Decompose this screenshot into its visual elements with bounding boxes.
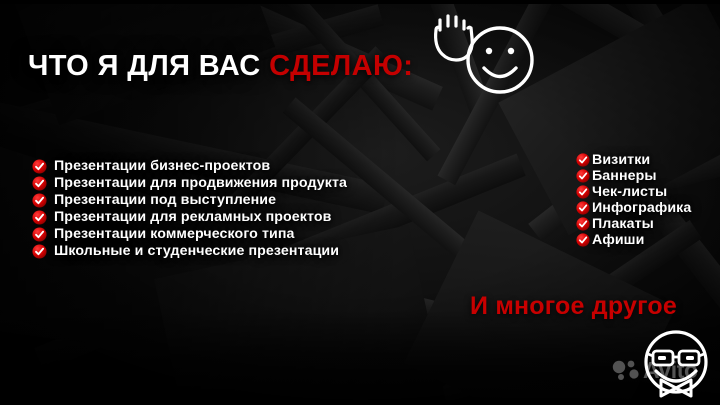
promo-poster: ЧТО Я ДЛЯ ВАС СДЕЛАЮ: [0, 0, 720, 405]
red-check-badge-icon [32, 176, 47, 191]
services-list-left: Презентации бизнес-проектов Презентации … [32, 158, 347, 260]
list-item: Визитки [576, 152, 691, 168]
red-check-badge-icon [576, 201, 590, 215]
red-check-badge-icon [576, 169, 590, 183]
list-item: Баннеры [576, 168, 691, 184]
nerd-smiley-glasses-bowtie-icon [636, 326, 716, 405]
red-check-badge-icon [32, 227, 47, 242]
list-item: Презентации коммерческого типа [32, 226, 347, 242]
list-item-label: Афиши [592, 232, 644, 248]
red-check-badge-icon [32, 193, 47, 208]
list-item-label: Плакаты [592, 216, 654, 232]
smiley-waving-hand-icon [426, 4, 546, 104]
page-title: ЧТО Я ДЛЯ ВАС СДЕЛАЮ: [28, 50, 413, 83]
list-item-label: Баннеры [592, 168, 657, 184]
red-check-badge-icon [576, 217, 590, 231]
list-item-label: Презентации для рекламных проектов [54, 209, 331, 225]
list-item-label: Презентации коммерческого типа [54, 226, 294, 242]
top-edge-bar [0, 0, 720, 4]
page-title-white: ЧТО Я ДЛЯ ВАС [28, 50, 269, 82]
list-item: Чек-листы [576, 184, 691, 200]
list-item-label: Инфографика [592, 200, 691, 216]
list-item-label: Презентации под выступление [54, 192, 276, 208]
more-services-text: И многое другое [470, 292, 677, 321]
list-item: Инфографика [576, 200, 691, 216]
list-item: Презентации для рекламных проектов [32, 209, 347, 225]
list-item: Презентации под выступление [32, 192, 347, 208]
red-check-badge-icon [32, 244, 47, 259]
list-item: Школьные и студенческие презентации [32, 243, 347, 259]
red-check-badge-icon [32, 210, 47, 225]
bottom-edge-bar [0, 400, 720, 405]
list-item-label: Чек-листы [592, 184, 667, 200]
list-item: Презентации бизнес-проектов [32, 158, 347, 174]
red-check-badge-icon [576, 233, 590, 247]
list-item-label: Визитки [592, 152, 650, 168]
list-item: Плакаты [576, 216, 691, 232]
list-item-label: Презентации для продвижения продукта [54, 175, 347, 191]
red-check-badge-icon [576, 153, 590, 167]
list-item: Афиши [576, 232, 691, 248]
list-item-label: Презентации бизнес-проектов [54, 158, 270, 174]
list-item: Презентации для продвижения продукта [32, 175, 347, 191]
page-title-accent: СДЕЛАЮ: [269, 50, 413, 82]
services-list-right: Визитки Баннеры Чек-листы [576, 152, 691, 248]
list-item-label: Школьные и студенческие презентации [54, 243, 339, 259]
red-check-badge-icon [32, 159, 47, 174]
red-check-badge-icon [576, 185, 590, 199]
